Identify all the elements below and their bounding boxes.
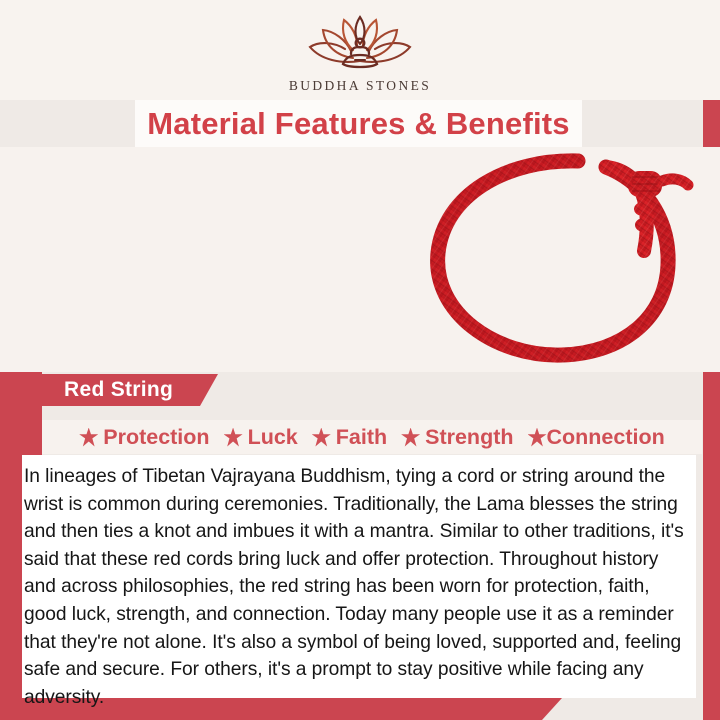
page-title-band: Material Features & Benefits	[135, 100, 582, 147]
feature-item-luck: Luck	[224, 425, 298, 450]
feature-item-faith: Faith	[312, 425, 387, 450]
feature-label: Connection	[547, 425, 665, 450]
page-title: Material Features & Benefits	[147, 106, 570, 142]
description-panel: In lineages of Tibetan Vajrayana Buddhis…	[22, 455, 696, 698]
feature-label: Strength	[425, 425, 513, 450]
feature-item-strength: Strength	[401, 425, 513, 450]
brand-name: BUDDHA STONES	[289, 78, 431, 94]
material-name-label: Red String	[64, 378, 173, 402]
star-icon	[528, 428, 547, 447]
feature-label: Faith	[336, 425, 387, 450]
brand-logo: BUDDHA STONES	[0, 14, 720, 94]
infographic-page: BUDDHA STONES Material Features & Benefi…	[0, 0, 720, 720]
description-text: In lineages of Tibetan Vajrayana Buddhis…	[24, 463, 690, 711]
star-icon	[401, 428, 420, 447]
red-braided-string-bracelet-image	[205, 147, 515, 372]
feature-item-connection: Connection	[528, 425, 665, 450]
material-name-banner: Red String	[0, 374, 218, 406]
brand-header: BUDDHA STONES	[0, 0, 720, 100]
feature-item-protection: Protection	[79, 425, 209, 450]
feature-label: Luck	[248, 425, 298, 450]
star-icon	[79, 428, 98, 447]
star-icon	[312, 428, 331, 447]
product-photo-area	[0, 147, 720, 372]
star-icon	[224, 428, 243, 447]
feature-label: Protection	[103, 425, 209, 450]
lotus-meditation-icon	[301, 14, 419, 76]
feature-benefit-list: Protection Luck Faith Strength Connectio…	[42, 420, 702, 454]
